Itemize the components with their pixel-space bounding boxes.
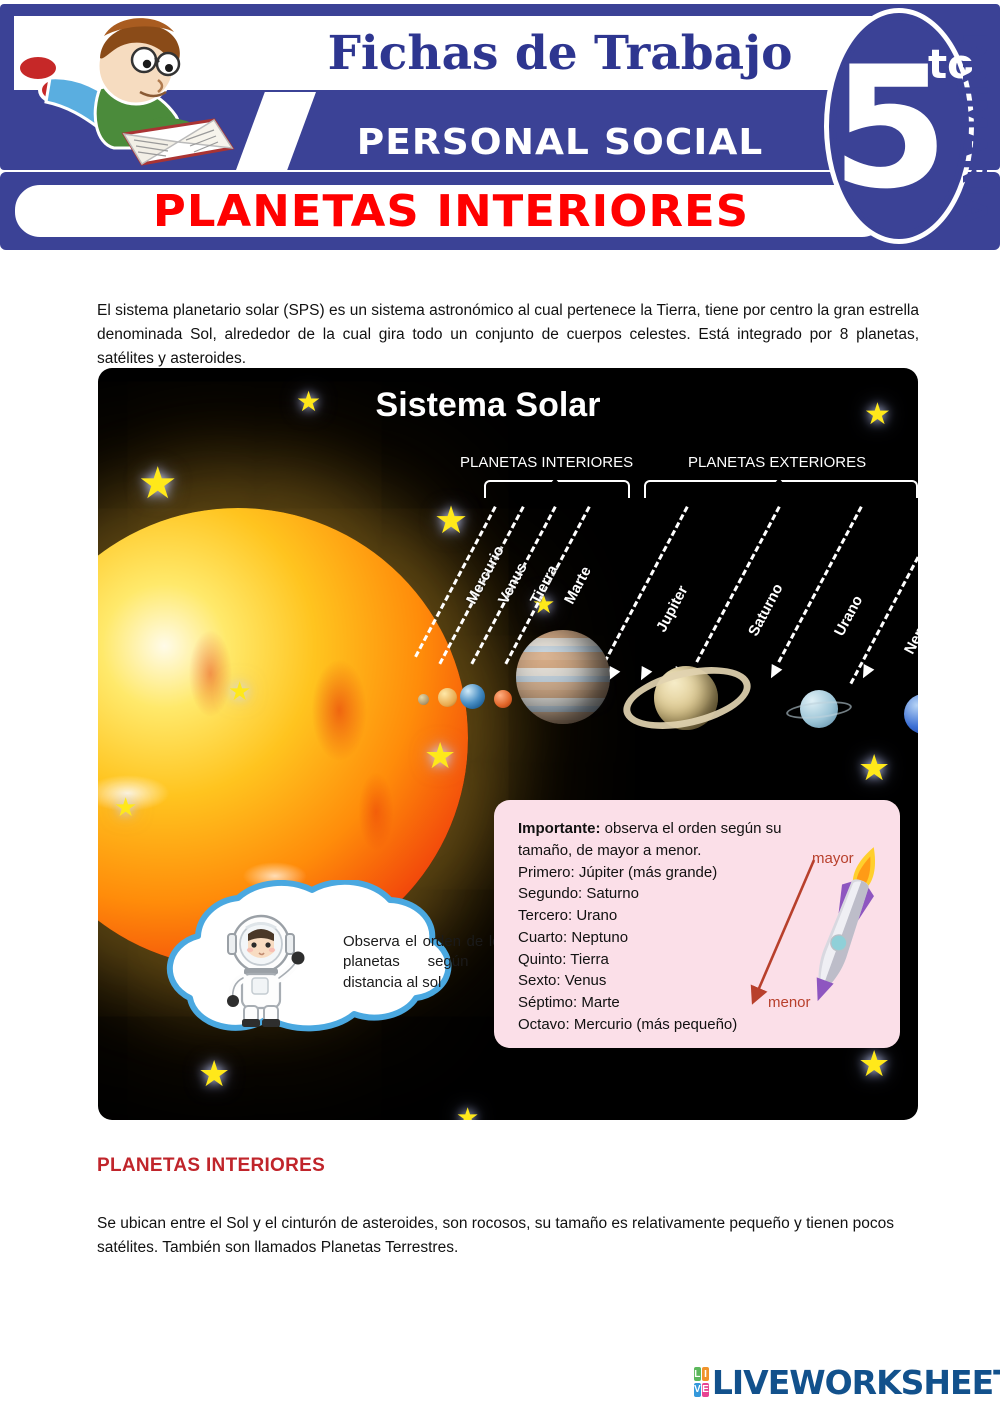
planet-label-urano: Urano [831, 593, 866, 639]
logo-letter-v: V [694, 1383, 701, 1397]
boy-reading-book-icon [8, 6, 238, 176]
pointer-line-urano [777, 506, 862, 663]
planet-tierra [460, 684, 485, 709]
planet-venus [438, 688, 457, 707]
grade-level: PRIMARIA [950, 12, 1000, 244]
logo-letter-e: E [702, 1383, 709, 1397]
intro-paragraph: El sistema planetario solar (SPS) es un … [97, 299, 919, 371]
planet-marte [494, 690, 512, 708]
arrow-label-menor: menor [768, 994, 811, 1011]
star-icon: ★ [424, 738, 456, 774]
bracket-inner-notch [546, 478, 564, 489]
group-label-outer: PLANETAS EXTERIORES [688, 454, 866, 471]
planet-label-marte: Marte [561, 564, 595, 607]
planet-label-venus: Venus [495, 560, 531, 607]
solar-system-diagram: ★ ★ ★ ★ ★ ★ ★ ★ ★ ★ ★ ★ ★ Sistema Solar … [98, 368, 918, 1120]
important-label: Importante: [518, 820, 601, 837]
section-title: PLANETAS INTERIORES [97, 1155, 325, 1177]
arrow-label-mayor: mayor [812, 850, 854, 867]
planet-jupiter [516, 630, 610, 724]
page-header: Fichas de Trabajo PERSONAL SOCIAL PLANET… [0, 0, 1000, 252]
important-line-4: Cuarto: Neptuno [518, 929, 628, 946]
liveworksheets-brand-text: LIVEWORKSHEETS [712, 1363, 1000, 1402]
star-icon: ★ [138, 462, 177, 506]
diagram-title: Sistema Solar [278, 386, 698, 425]
planet-urano-ring [785, 699, 852, 722]
star-icon: ★ [114, 794, 137, 820]
worksheet-subject-title: PERSONAL SOCIAL [290, 116, 831, 168]
page-title: PLANETAS INTERIORES [3, 182, 899, 240]
star-icon: ★ [198, 1056, 230, 1092]
liveworksheets-logo-icon: L I V E [694, 1367, 709, 1397]
liveworksheets-footer[interactable]: L I V E LIVEWORKSHEETS [694, 1362, 994, 1402]
important-line-3: Tercero: Urano [518, 907, 617, 924]
grade-level-text: PRIMARIA [956, 32, 995, 223]
cloud-callout-text: Observa el orden de los planetas según l… [343, 932, 508, 993]
worksheet-series-title: Fichas de Trabajo [300, 18, 820, 88]
astronaut-icon [216, 908, 306, 1028]
important-line-8: Octavo: Mercurio (más pequeño) [518, 1016, 737, 1033]
pointer-line-saturno [695, 506, 780, 663]
star-icon: ★ [858, 750, 890, 786]
important-line-2: Segundo: Saturno [518, 885, 639, 902]
planet-label-saturno: Saturno [745, 581, 787, 639]
cloud-callout: Observa el orden de los planetas según l… [128, 880, 528, 1045]
star-icon: ★ [864, 400, 891, 430]
planet-label-jupiter: Jupiter [653, 583, 691, 635]
logo-letter-l: L [694, 1367, 701, 1381]
important-line-6: Sexto: Venus [518, 972, 606, 989]
grade-badge: 5 to PRIMARIA [824, 4, 1000, 248]
star-icon: ★ [434, 502, 468, 540]
bracket-outer-notch [770, 478, 788, 489]
star-icon: ★ [858, 1046, 890, 1082]
planet-label-neptuno: Neptuno [901, 595, 918, 657]
section-body: Se ubican entre el Sol y el cinturón de … [97, 1212, 919, 1262]
planet-label-tierra: Tierra [527, 562, 561, 607]
star-icon: ★ [456, 1104, 479, 1120]
important-line-5: Quinto: Tierra [518, 951, 609, 968]
pointer-arrow-jupiter [766, 664, 783, 681]
logo-letter-i: I [702, 1367, 709, 1381]
group-label-inner: PLANETAS INTERIORES [460, 454, 633, 471]
important-line-7: Séptimo: Marte [518, 994, 620, 1011]
star-icon: ★ [228, 678, 251, 704]
important-line-1: Primero: Júpiter (más grande) [518, 864, 717, 881]
important-box: Importante: observa el orden según su ta… [494, 800, 900, 1048]
planet-neptuno [904, 694, 918, 734]
planet-mercurio [418, 694, 429, 705]
